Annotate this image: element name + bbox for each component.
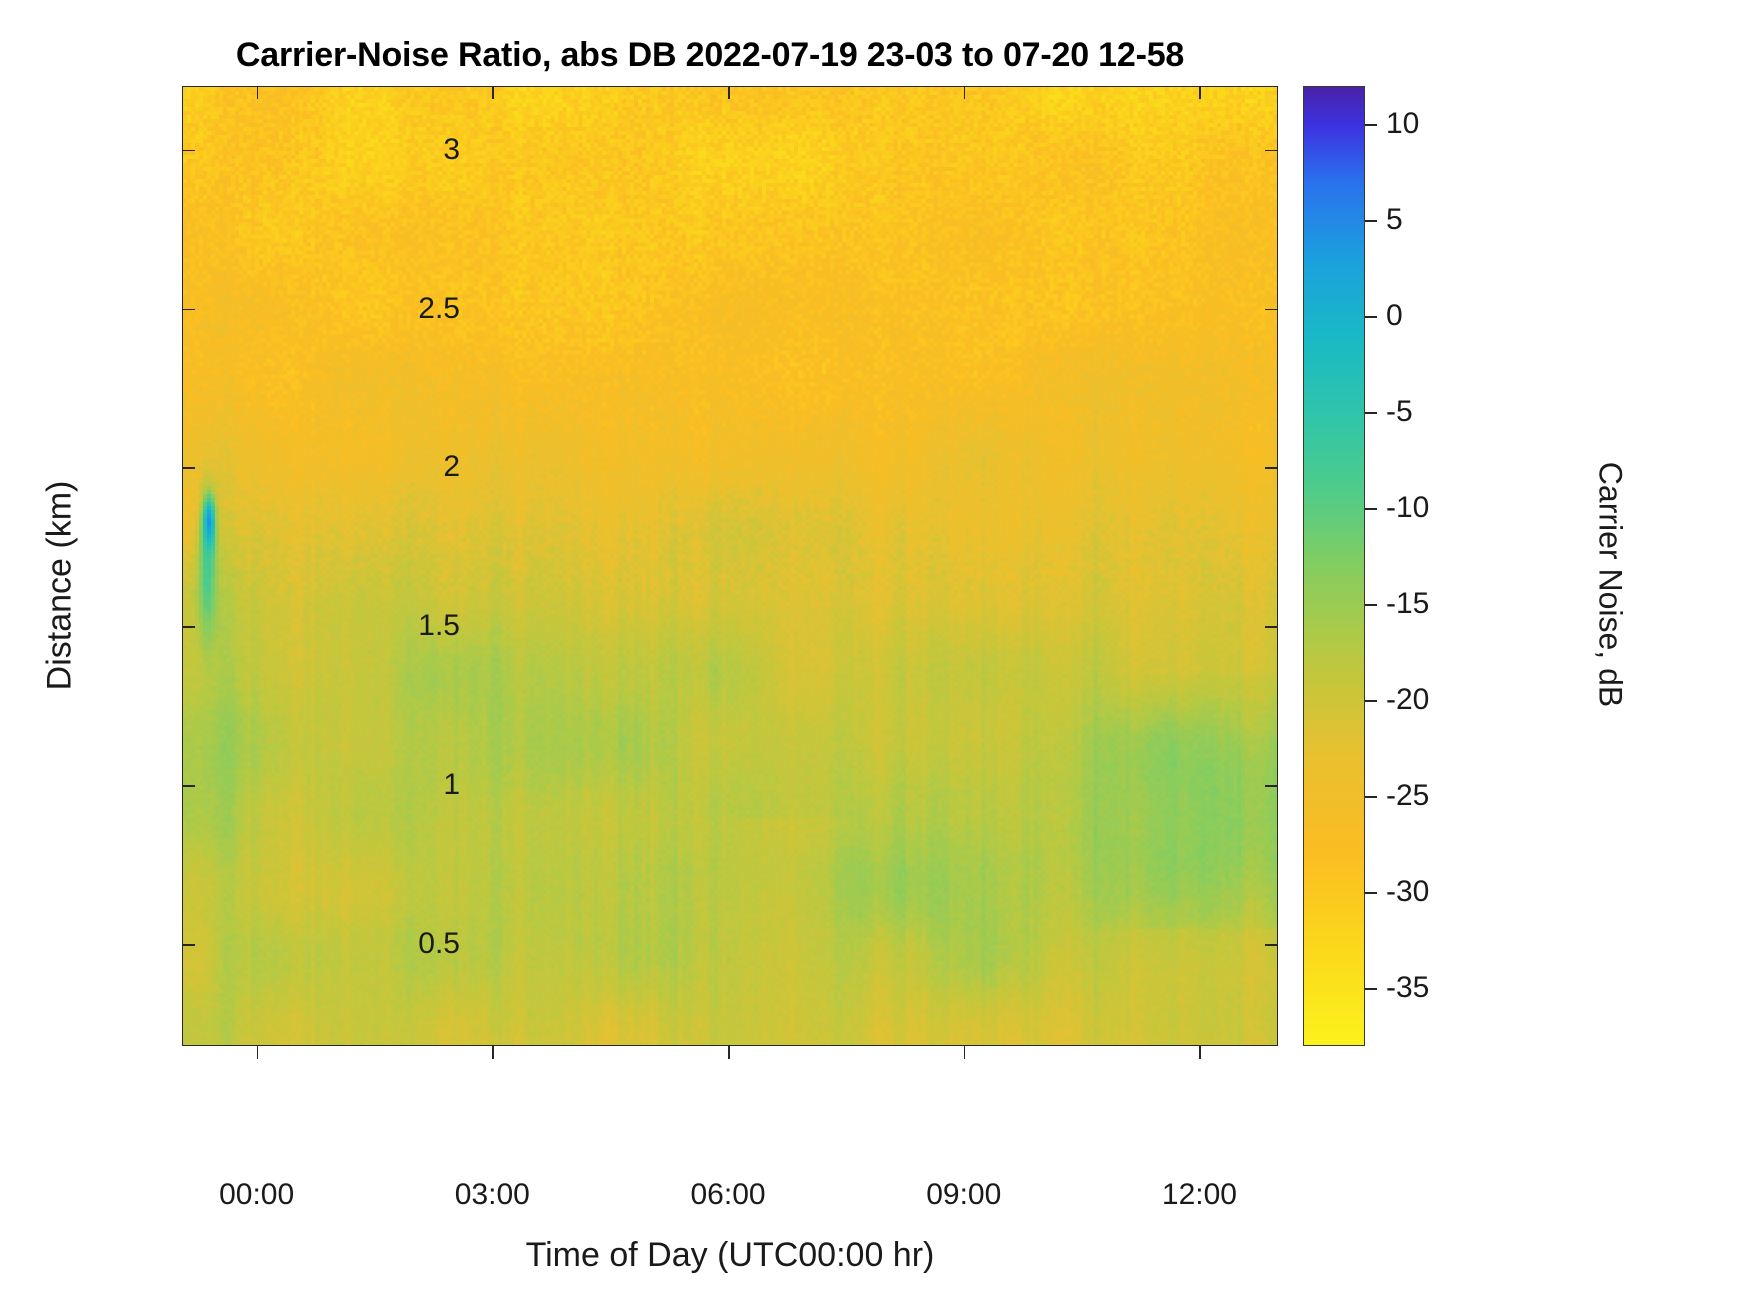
page-title: Carrier-Noise Ratio, abs DB 2022-07-19 2… bbox=[0, 36, 1420, 75]
y-tick-mark bbox=[182, 944, 195, 946]
y-tick-label: 3 bbox=[260, 133, 460, 167]
heatmap-image bbox=[183, 87, 1277, 1045]
x-tick-label: 09:00 bbox=[926, 1178, 1001, 1212]
colorbar-tick-mark bbox=[1365, 412, 1377, 414]
colorbar-tick-mark bbox=[1365, 700, 1377, 702]
y-tick-mark-right bbox=[1265, 785, 1278, 787]
colorbar-tick-label: 5 bbox=[1386, 203, 1403, 237]
colorbar-tick-mark bbox=[1365, 988, 1377, 990]
y-tick-mark bbox=[182, 309, 195, 311]
colorbar-tick-label: -20 bbox=[1386, 683, 1429, 717]
x-tick-mark bbox=[728, 1046, 730, 1059]
x-tick-label: 12:00 bbox=[1162, 1178, 1237, 1212]
y-tick-mark-right bbox=[1265, 467, 1278, 469]
x-tick-mark-top bbox=[964, 86, 966, 99]
colorbar-tick-label: -15 bbox=[1386, 587, 1429, 621]
colorbar-tick-label: 10 bbox=[1386, 107, 1419, 141]
colorbar-tick-mark bbox=[1365, 604, 1377, 606]
x-tick-label: 06:00 bbox=[690, 1178, 765, 1212]
colorbar-tick-mark bbox=[1365, 316, 1377, 318]
x-tick-label: 00:00 bbox=[219, 1178, 294, 1212]
y-tick-mark-right bbox=[1265, 944, 1278, 946]
colorbar-tick-mark bbox=[1365, 508, 1377, 510]
y-tick-label: 1.5 bbox=[260, 609, 460, 643]
x-axis-label: Time of Day (UTC00:00 hr) bbox=[182, 1236, 1278, 1275]
x-tick-mark bbox=[492, 1046, 494, 1059]
colorbar-tick-mark bbox=[1365, 892, 1377, 894]
colorbar-tick-mark bbox=[1365, 220, 1377, 222]
heatmap-plot-area bbox=[182, 86, 1278, 1046]
colorbar-gradient bbox=[1304, 87, 1364, 1045]
x-tick-mark-top bbox=[1199, 86, 1201, 99]
colorbar bbox=[1303, 86, 1365, 1046]
y-tick-mark-right bbox=[1265, 626, 1278, 628]
y-tick-label: 0.5 bbox=[260, 927, 460, 961]
x-tick-mark bbox=[964, 1046, 966, 1059]
y-tick-label: 2 bbox=[260, 450, 460, 484]
colorbar-tick-label: -30 bbox=[1386, 875, 1429, 909]
colorbar-tick-mark bbox=[1365, 796, 1377, 798]
y-tick-mark bbox=[182, 150, 195, 152]
y-axis-label: Distance (km) bbox=[41, 326, 80, 846]
y-tick-mark-right bbox=[1265, 309, 1278, 311]
x-tick-mark bbox=[257, 1046, 259, 1059]
x-tick-mark-top bbox=[492, 86, 494, 99]
y-tick-mark-right bbox=[1265, 150, 1278, 152]
y-tick-mark bbox=[182, 626, 195, 628]
x-tick-mark bbox=[1199, 1046, 1201, 1059]
colorbar-tick-label: -10 bbox=[1386, 491, 1429, 525]
x-tick-mark-top bbox=[728, 86, 730, 99]
colorbar-tick-label: -25 bbox=[1386, 779, 1429, 813]
colorbar-label: Carrier Noise, dB bbox=[1592, 305, 1629, 865]
y-tick-mark bbox=[182, 467, 195, 469]
figure-canvas: Carrier-Noise Ratio, abs DB 2022-07-19 2… bbox=[0, 0, 1750, 1313]
colorbar-tick-mark bbox=[1365, 124, 1377, 126]
y-tick-mark bbox=[182, 785, 195, 787]
colorbar-tick-label: -5 bbox=[1386, 395, 1413, 429]
y-tick-label: 1 bbox=[260, 768, 460, 802]
y-tick-label: 2.5 bbox=[260, 292, 460, 326]
x-tick-label: 03:00 bbox=[455, 1178, 530, 1212]
colorbar-tick-label: -35 bbox=[1386, 971, 1429, 1005]
colorbar-tick-label: 0 bbox=[1386, 299, 1403, 333]
x-tick-mark-top bbox=[257, 86, 259, 99]
